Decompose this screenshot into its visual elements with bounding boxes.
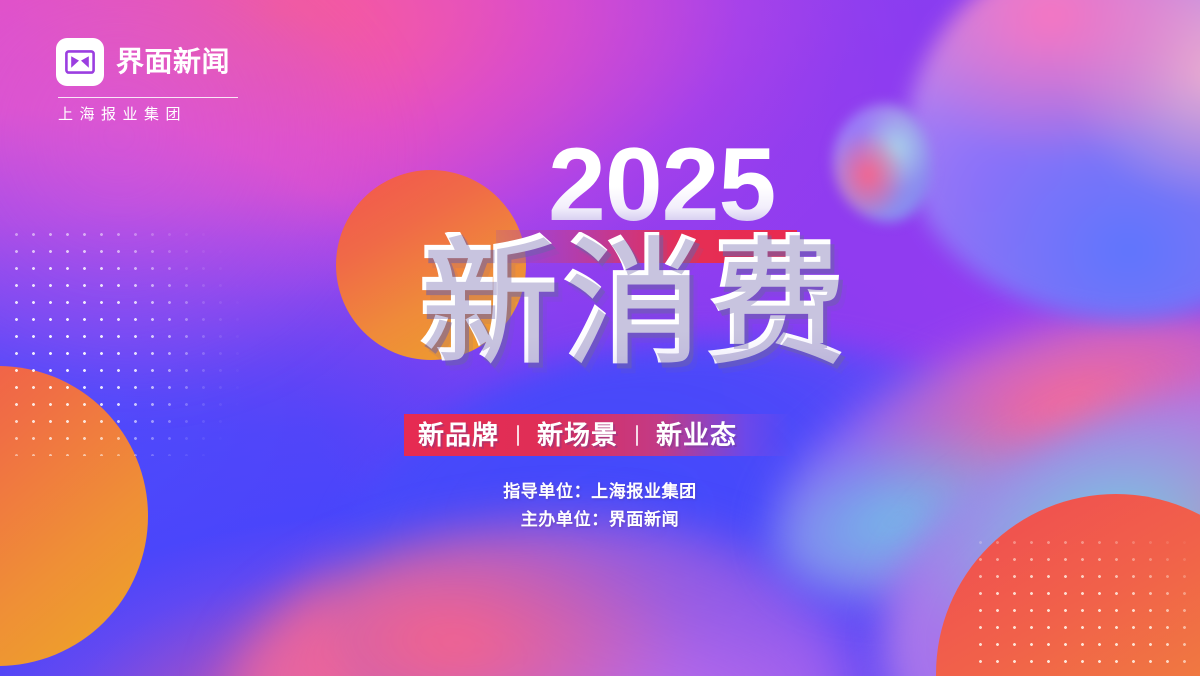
orange-circle-bottom-left: [0, 366, 148, 666]
hero-year: 2025: [548, 133, 775, 237]
logo-row: 界面新闻: [56, 38, 236, 86]
hero-subtitle-separator-2: [636, 425, 638, 446]
event-poster: 界面新闻 上海报业集团 2025 新消费 新品牌 新场景 新业态 指导单位：上海…: [0, 0, 1200, 676]
credit-line-guidance: 指导单位：上海报业集团: [0, 478, 1200, 506]
logo-wordmark: 界面新闻: [116, 48, 230, 76]
hero-subtitle-segment-3: 新业态: [656, 422, 737, 448]
orange-circle-main: [336, 170, 526, 360]
jiemian-bowtie-icon: [56, 38, 104, 86]
hero-subtitle-segment-2: 新场景: [537, 422, 618, 448]
logo-subbrand: 上海报业集团: [56, 107, 236, 122]
red-circle-bottom-right: [936, 494, 1200, 676]
iridescent-blob-top-right: [905, 0, 1200, 320]
pink-organic-blob-bottom: [230, 520, 850, 676]
hero-subtitle-group: 新品牌 新场景 新业态: [404, 422, 737, 448]
hero-crimson-banner: [496, 230, 797, 263]
hero-subtitle-segment-1: 新品牌: [418, 422, 499, 448]
hero-subtitle-separator-1: [517, 425, 519, 446]
iridescent-blob-small-right: [833, 104, 931, 222]
brand-logo-lockup: 界面新闻 上海报业集团: [56, 38, 236, 122]
logo-divider: [58, 97, 238, 98]
hero-subtitle-bar: 新品牌 新场景 新业态: [404, 414, 792, 456]
